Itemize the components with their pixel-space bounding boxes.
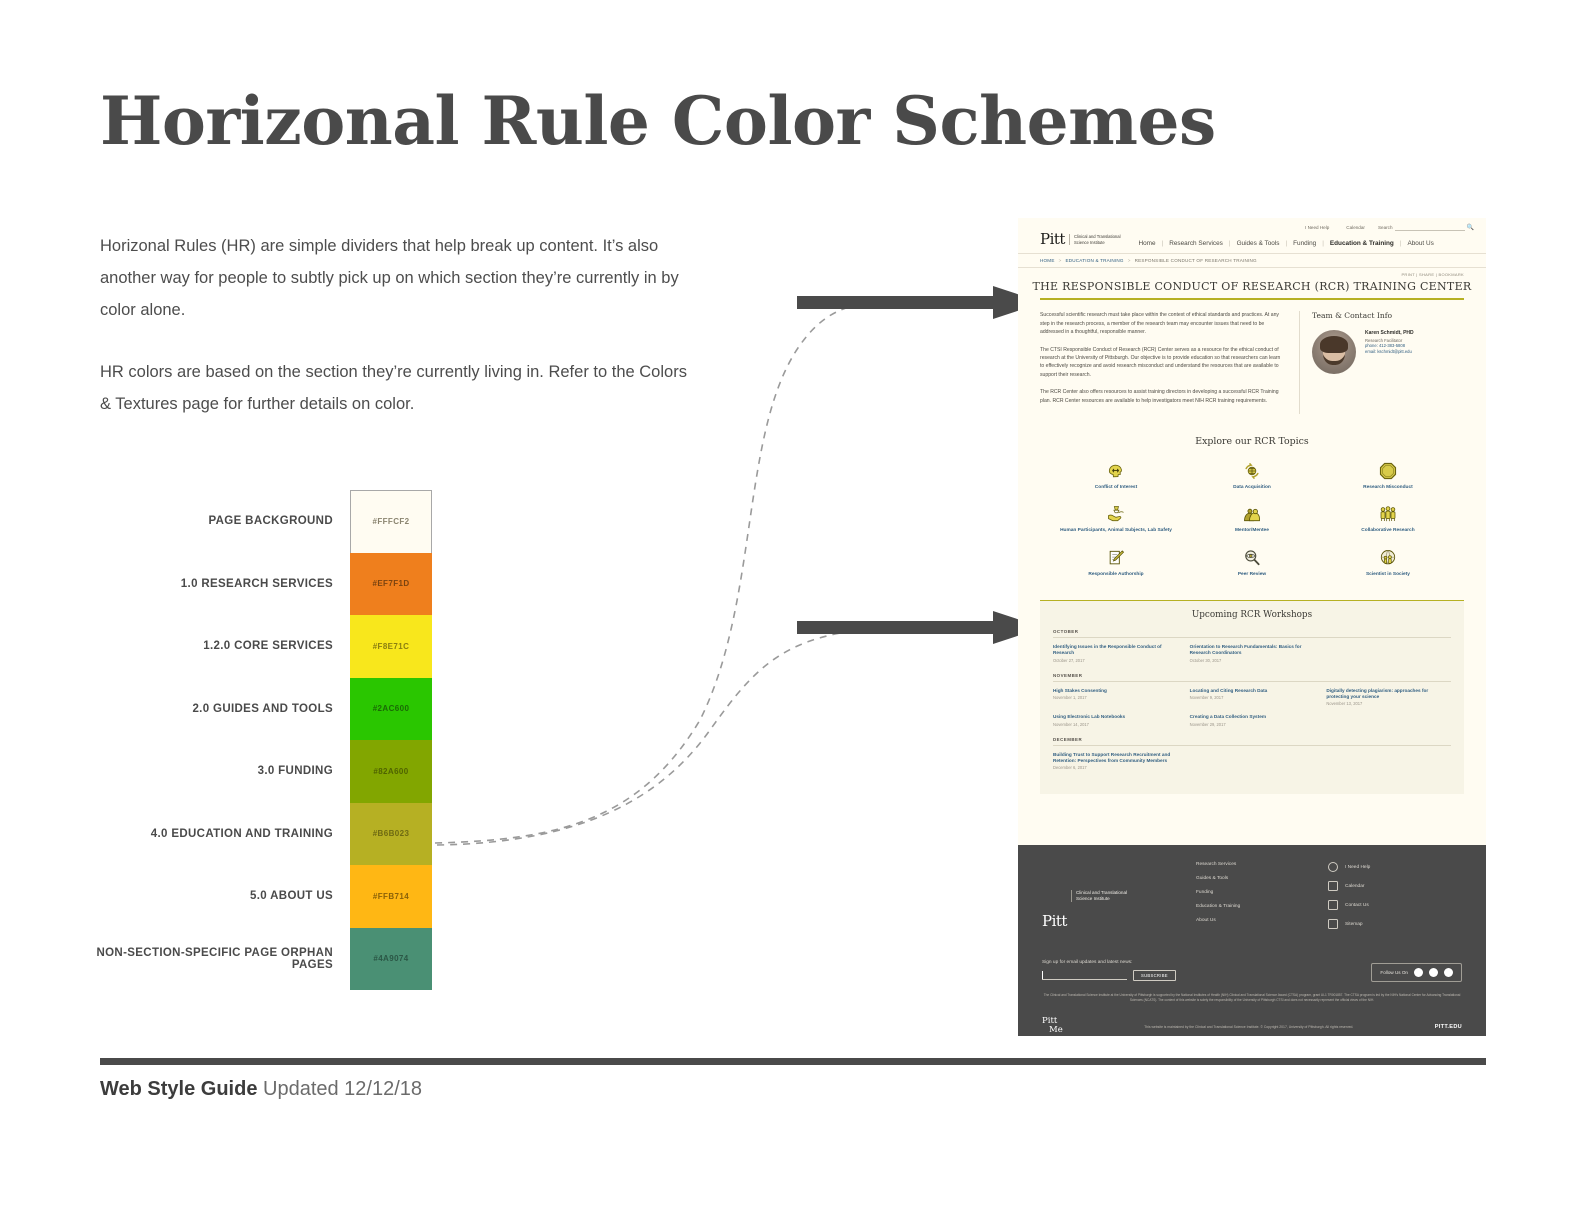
topic-item[interactable]: Peer Review (1184, 547, 1320, 578)
pencil-page-icon (1048, 547, 1184, 569)
footer-caption-rest: Updated 12/12/18 (257, 1078, 422, 1100)
main-nav: Home| Research Services| Guides & Tools|… (1133, 240, 1440, 247)
search-underline (1395, 224, 1465, 231)
footer-help-links: I Need Help Calendar Contact Us Sitemap (1328, 862, 1370, 929)
follow-label: Follow Us On (1380, 970, 1408, 975)
workshop-name: Building Trust to Support Research Recru… (1053, 752, 1178, 764)
workshop-name: Orientation to Research Fundamentals: Ba… (1190, 644, 1315, 656)
swatch-row: 1.0 RESEARCH SERVICES#EF7F1D (80, 553, 432, 616)
contact-name: Karen Schmidt, PHD (1365, 330, 1414, 336)
body-paragraph: Successful scientific research must take… (1040, 311, 1285, 336)
footer-link-funding[interactable]: Funding (1196, 890, 1314, 895)
swatch-row: 3.0 FUNDING#82A600 (80, 740, 432, 803)
intro-copy: Horizonal Rules (HR) are simple dividers… (100, 230, 700, 420)
mock-body: Successful scientific research must take… (1018, 311, 1486, 414)
breadcrumb-chevron-icon: > (1055, 258, 1066, 263)
swatch-label: 4.0 EDUCATION AND TRAINING (80, 803, 350, 866)
workshop-row: High Stakes ConsentingNovember 1, 2017Lo… (1053, 688, 1451, 707)
topic-item[interactable]: Responsible Authorship (1048, 547, 1184, 578)
workshop-month-label: NOVEMBER (1053, 673, 1451, 682)
workshop-item-empty (1326, 714, 1451, 727)
swatch-label: 5.0 ABOUT US (80, 865, 350, 928)
footer-link-research-services[interactable]: Research Services (1196, 862, 1314, 867)
breadcrumb-education[interactable]: EDUCATION & TRAINING (1065, 258, 1123, 263)
nav-item-home[interactable]: Home (1133, 240, 1162, 247)
pitt-me-logo[interactable]: Pitt Me (1042, 1017, 1063, 1036)
stop-sign-icon (1320, 460, 1456, 482)
workshop-date: November 9, 2017 (1190, 695, 1315, 700)
topic-item[interactable]: Collaborative Research (1320, 503, 1456, 534)
footer-logo-sub-line-1: Clinical and Translational (1076, 890, 1127, 895)
topic-label: Collaborative Research (1320, 528, 1456, 534)
footer-link-about-us[interactable]: About Us (1196, 918, 1314, 923)
breadcrumb-current: RESPONSIBLE CONDUCT OF RESEARCH TRAINING (1135, 258, 1257, 263)
head-arrows-icon (1048, 460, 1184, 482)
breadcrumb-home[interactable]: HOME (1040, 258, 1055, 263)
swatch-chip: #B6B023 (350, 803, 432, 866)
topic-label: Research Misconduct (1320, 485, 1456, 491)
topic-label: Human Participants, Animal Subjects, Lab… (1048, 528, 1184, 534)
footer-top: Pitt Clinical and Translational Science … (1018, 845, 1486, 929)
page-tools[interactable]: PRINT | SHARE | BOOKMARK (1018, 268, 1486, 277)
workshop-item-empty (1326, 644, 1451, 663)
twitter-icon[interactable] (1429, 968, 1438, 977)
workshop-month-label: DECEMBER (1053, 737, 1451, 746)
topic-item[interactable]: Data Acquisition (1184, 460, 1320, 491)
workshop-months: OCTOBERIdentifying Issues in the Respons… (1053, 629, 1451, 770)
workshop-item[interactable]: Identifying Issues in the Responsible Co… (1053, 644, 1178, 663)
contact-email[interactable]: email: kschmidt@pitt.edu (1365, 349, 1414, 355)
calendar-icon (1338, 225, 1344, 231)
globe-people-icon (1320, 547, 1456, 569)
swatch-chip: #FFFCF2 (350, 490, 432, 553)
pitt-edu-link[interactable]: PITT.EDU (1435, 1024, 1462, 1030)
utility-item-i-need-help[interactable]: I Need Help (1297, 225, 1329, 231)
workshops-panel: Upcoming RCR Workshops OCTOBERIdentifyin… (1040, 600, 1464, 794)
workshop-name: Creating a Data Collection System (1190, 714, 1315, 720)
footer-help-label: Calendar (1345, 884, 1364, 889)
swatch-chip: #82A600 (350, 740, 432, 803)
intro-paragraph-1: Horizonal Rules (HR) are simple dividers… (100, 230, 700, 326)
swatch-chip: #4A9074 (350, 928, 432, 991)
workshop-date: October 30, 2017 (1190, 658, 1315, 663)
footer-help-contact-us[interactable]: Contact Us (1328, 900, 1370, 910)
facebook-icon[interactable] (1414, 968, 1423, 977)
people-group-icon (1320, 503, 1456, 525)
search-input[interactable]: Search 🔍 (1378, 224, 1474, 231)
nav-item-funding[interactable]: Funding (1287, 240, 1322, 247)
pitt-logo[interactable]: Pitt (1040, 232, 1065, 247)
workshop-date: October 27, 2017 (1053, 658, 1178, 663)
swatch-chip: #F8E71C (350, 615, 432, 678)
workshop-month-block: DECEMBERBuilding Trust to Support Resear… (1053, 737, 1451, 771)
workshop-date: November 13, 2017 (1326, 701, 1451, 706)
search-icon[interactable]: 🔍 (1467, 224, 1474, 231)
topic-item[interactable]: Human Participants, Animal Subjects, Lab… (1048, 503, 1184, 534)
swatch-chip: #2AC600 (350, 678, 432, 741)
swatch-chip: #EF7F1D (350, 553, 432, 616)
workshop-month-block: NOVEMBERHigh Stakes ConsentingNovember 1… (1053, 673, 1451, 727)
horizontal-rule-primary (1040, 298, 1464, 300)
mock-utility-bar: I Need Help Calendar Search 🔍 (1018, 218, 1486, 231)
data-cycle-icon (1184, 460, 1320, 482)
logo-sub-line-2: Science Institute (1074, 240, 1105, 245)
page-title: Horizonal Rule Color Schemes (100, 88, 1216, 154)
question-icon (1328, 862, 1338, 872)
swatch-label: 3.0 FUNDING (80, 740, 350, 803)
workshop-item[interactable]: Using Electronic Lab NotebooksNovember 1… (1053, 714, 1178, 727)
hands-protect-icon (1048, 503, 1184, 525)
footer-signup: Sign up for email updates and latest new… (1042, 960, 1176, 981)
swatch-label: PAGE BACKGROUND (80, 490, 350, 553)
utility-item-calendar[interactable]: Calendar (1338, 225, 1365, 231)
swatch-row: 4.0 EDUCATION AND TRAINING#B6B023 (80, 803, 432, 866)
topic-item[interactable]: Scientist in Society (1320, 547, 1456, 578)
footer-bottom: Pitt Me This website is maintained by th… (1018, 1017, 1486, 1036)
footer-brand: Pitt Clinical and Translational Science … (1042, 862, 1182, 929)
workshop-item[interactable]: High Stakes ConsentingNovember 1, 2017 (1053, 688, 1178, 707)
workshop-row: Building Trust to Support Research Recru… (1053, 752, 1451, 771)
workshop-item[interactable]: Digitally detecting plagiarism: approach… (1326, 688, 1451, 707)
footer-help-label: Sitemap (1345, 922, 1363, 927)
swatch-row: 2.0 GUIDES AND TOOLS#2AC600 (80, 678, 432, 741)
breadcrumb-chevron-icon: > (1124, 258, 1135, 263)
topic-item[interactable]: Conflict of Interest (1048, 460, 1184, 491)
swatch-row: 5.0 ABOUT US#FFB714 (80, 865, 432, 928)
pitt-me-line-2: Me (1049, 1026, 1063, 1035)
body-paragraph: The RCR Center also offers resources to … (1040, 388, 1285, 405)
footer-pitt-logo[interactable]: Pitt (1042, 914, 1067, 929)
topic-item[interactable]: Research Misconduct (1320, 460, 1456, 491)
footer-legal: The Clinical and Translational Science I… (1042, 993, 1462, 1003)
subscribe-button[interactable]: SUBSCRIBE (1133, 970, 1176, 981)
workshop-name: Identifying Issues in the Responsible Co… (1053, 644, 1178, 656)
workshop-date: November 1, 2017 (1053, 695, 1178, 700)
footer-links: Research Services Guides & Tools Funding… (1196, 862, 1314, 929)
footer-help-sitemap[interactable]: Sitemap (1328, 919, 1370, 929)
contact-card: Karen Schmidt, PHD Research Facilitator … (1312, 330, 1464, 374)
mock-body-text: Successful scientific research must take… (1040, 311, 1285, 414)
workshop-name: Digitally detecting plagiarism: approach… (1326, 688, 1451, 700)
calendar-icon (1328, 881, 1338, 891)
topic-label: Data Acquisition (1184, 485, 1320, 491)
workshop-item[interactable]: Building Trust to Support Research Recru… (1053, 752, 1178, 771)
topic-label: Scientist in Society (1320, 572, 1456, 578)
footer-follow: Follow Us On (1371, 963, 1462, 982)
workshop-month-block: OCTOBERIdentifying Issues in the Respons… (1053, 629, 1451, 663)
swatch-chip: #FFB714 (350, 865, 432, 928)
footer-help-label: I Need Help (1345, 865, 1370, 870)
workshop-item-empty (1326, 752, 1451, 771)
workshop-date: December 6, 2017 (1053, 765, 1178, 770)
workshop-item-empty (1190, 752, 1315, 771)
utility-label: Calendar (1346, 225, 1365, 230)
utility-label: I Need Help (1305, 225, 1329, 230)
instagram-icon[interactable] (1444, 968, 1453, 977)
topic-item[interactable]: Mentor/Mentee (1184, 503, 1320, 534)
mock-nav-row: Pitt Clinical and Translational Science … (1018, 231, 1486, 253)
footer-help-label: Contact Us (1345, 903, 1369, 908)
breadcrumb: HOME>EDUCATION & TRAINING>RESPONSIBLE CO… (1018, 253, 1486, 268)
footer-signup-label: Sign up for email updates and latest new… (1042, 960, 1176, 965)
mock-page-heading: THE RESPONSIBLE CONDUCT OF RESEARCH (RCR… (1018, 277, 1486, 298)
swatch-label: NON-SECTION-SPECIFIC PAGE ORPHAN PAGES (80, 928, 350, 991)
workshop-item[interactable]: Orientation to Research Fundamentals: Ba… (1190, 644, 1315, 663)
footer-caption-bold: Web Style Guide (100, 1078, 257, 1100)
swatch-row: PAGE BACKGROUND#FFFCF2 (80, 490, 432, 553)
topic-label: Responsible Authorship (1048, 572, 1184, 578)
workshop-name: High Stakes Consenting (1053, 688, 1178, 694)
footer-link-guides-tools[interactable]: Guides & Tools (1196, 876, 1314, 881)
question-icon (1297, 225, 1303, 231)
topic-label: Conflict of Interest (1048, 485, 1184, 491)
footer-link-education-training[interactable]: Education & Training (1196, 904, 1314, 909)
intro-paragraph-2: HR colors are based on the section they’… (100, 356, 700, 420)
nav-item-research-services[interactable]: Research Services (1163, 240, 1229, 247)
workshop-date: November 14, 2017 (1053, 722, 1178, 727)
workshop-month-label: OCTOBER (1053, 629, 1451, 638)
contact-title: Team & Contact Info (1312, 311, 1464, 320)
workshops-title: Upcoming RCR Workshops (1053, 610, 1451, 620)
avatar (1312, 330, 1356, 374)
contact-sidebar: Team & Contact Info Karen Schmidt, PHD R… (1299, 311, 1464, 414)
workshop-name: Using Electronic Lab Notebooks (1053, 714, 1178, 720)
footer-signup-row: SUBSCRIBE (1042, 970, 1176, 981)
footer-help-calendar[interactable]: Calendar (1328, 881, 1370, 891)
workshop-item[interactable]: Locating and Citing Research DataNovembe… (1190, 688, 1315, 707)
sitemap-icon (1328, 919, 1338, 929)
workshop-row: Using Electronic Lab NotebooksNovember 1… (1053, 714, 1451, 727)
nav-item-education-training[interactable]: Education & Training (1324, 240, 1400, 247)
workshop-row: Identifying Issues in the Responsible Co… (1053, 644, 1451, 663)
workshop-name: Locating and Citing Research Data (1190, 688, 1315, 694)
topic-label: Peer Review (1184, 572, 1320, 578)
footer-caption: Web Style Guide Updated 12/12/18 (100, 1078, 422, 1101)
footer-help-i-need-help[interactable]: I Need Help (1328, 862, 1370, 872)
color-swatch-table: PAGE BACKGROUND#FFFCF21.0 RESEARCH SERVI… (80, 490, 432, 990)
two-heads-icon (1184, 503, 1320, 525)
body-paragraph: The CTSI Responsible Conduct of Research… (1040, 346, 1285, 380)
workshop-item[interactable]: Creating a Data Collection SystemNovembe… (1190, 714, 1315, 727)
swatch-label: 1.0 RESEARCH SERVICES (80, 553, 350, 616)
nav-item-about-us[interactable]: About Us (1401, 240, 1439, 247)
footer-copyright: This website is maintained by the Clinic… (1063, 1025, 1435, 1030)
nav-item-guides-tools[interactable]: Guides & Tools (1231, 240, 1286, 247)
topics-grid: Conflict of InterestData AcquisitionRese… (1018, 460, 1486, 590)
envelope-icon (1328, 900, 1338, 910)
swatch-label: 2.0 GUIDES AND TOOLS (80, 678, 350, 741)
search-placeholder: Search (1378, 225, 1393, 230)
magnifier-eye-icon (1184, 547, 1320, 569)
email-field[interactable] (1042, 971, 1127, 980)
swatch-row: NON-SECTION-SPECIFIC PAGE ORPHAN PAGES#4… (80, 928, 432, 991)
swatch-row: 1.2.0 CORE SERVICES#F8E71C (80, 615, 432, 678)
pitt-logo-subtitle: Clinical and Translational Science Insti… (1069, 234, 1121, 244)
topic-label: Mentor/Mentee (1184, 528, 1320, 534)
mock-site-footer: Pitt Clinical and Translational Science … (1018, 845, 1486, 1036)
workshop-date: November 29, 2017 (1190, 722, 1315, 727)
footer-logo-subtitle: Clinical and Translational Science Insti… (1071, 890, 1127, 902)
footer-rule (100, 1058, 1486, 1065)
swatch-label: 1.2.0 CORE SERVICES (80, 615, 350, 678)
topics-title: Explore our RCR Topics (1018, 436, 1486, 447)
footer-logo-sub-line-2: Science Institute (1076, 896, 1110, 901)
